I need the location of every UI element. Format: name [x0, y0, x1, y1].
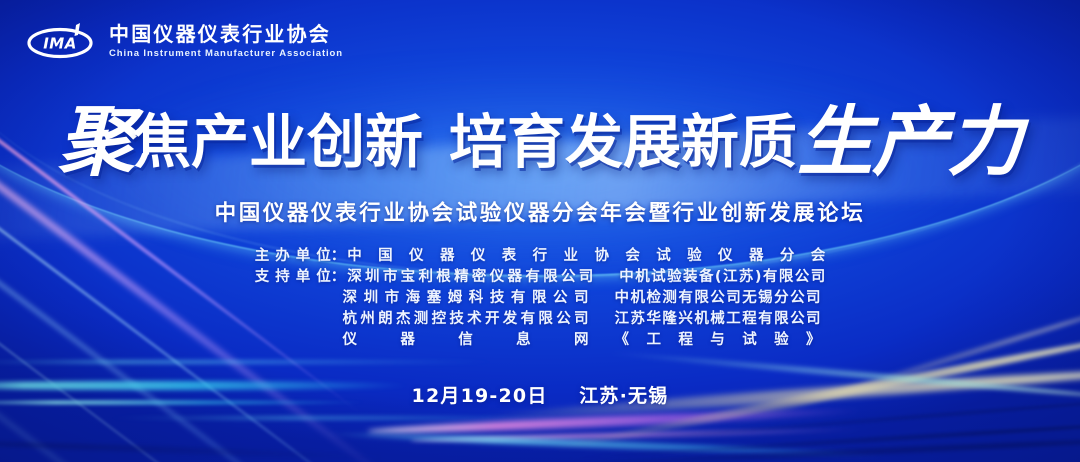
logo-text-block: 中国仪器仪表行业协会 China Instrument Manufacturer…	[109, 24, 343, 59]
support-unit-left: 仪器信息网	[343, 330, 589, 351]
title-segment-emphasis-2: 生产力	[797, 104, 1022, 180]
host-unit-row: 主办单位 ： 中国仪器仪表行业协会试验仪器分会	[255, 246, 826, 267]
title-segment-emphasis-1: 聚	[58, 104, 133, 180]
support-unit-row: 仪器信息网 《工程与试验》	[259, 330, 820, 351]
event-location: 江苏·无锡	[579, 385, 668, 407]
title-segment-3: 培育发展新质	[449, 113, 797, 171]
association-logo: IMA 中国仪器仪表行业协会 China Instrument Manufact…	[26, 22, 343, 60]
event-date: 12月19-20日	[412, 385, 548, 407]
title-segment-2: 焦产业创新	[133, 113, 423, 171]
support-unit-right: 中机检测有限公司无锡分公司	[615, 288, 821, 309]
support-unit-right: 江苏华隆兴机械工程有限公司	[615, 309, 821, 330]
organizer-block: 主办单位 ： 中国仪器仪表行业协会试验仪器分会 支持单位 ： 深圳市宝利根精密仪…	[0, 246, 1080, 351]
logo-name-en: China Instrument Manufacturer Associatio…	[109, 48, 343, 59]
support-unit-left: 深圳市宝利根精密仪器有限公司	[347, 267, 593, 288]
host-unit-label: 主办单位	[255, 246, 331, 267]
event-subtitle: 中国仪器仪表行业协会试验仪器分会年会暨行业创新发展论坛	[0, 196, 1080, 227]
main-title: 聚 焦产业创新 培育发展新质 生产力	[0, 96, 1080, 188]
logo-name-cn: 中国仪器仪表行业协会	[109, 24, 343, 44]
support-unit-right: 《工程与试验》	[615, 330, 821, 351]
host-colon: ：	[331, 246, 346, 267]
host-unit-value: 中国仪器仪表行业协会试验仪器分会	[347, 246, 825, 267]
support-unit-left: 深圳市海塞姆科技有限公司	[343, 288, 589, 309]
support-unit-row: 深圳市海塞姆科技有限公司 中机检测有限公司无锡分公司	[259, 288, 820, 309]
banner-content: IMA 中国仪器仪表行业协会 China Instrument Manufact…	[0, 0, 1080, 462]
row-indent-colon	[335, 330, 340, 351]
support-unit-row: 杭州朗杰测控技术开发有限公司 江苏华隆兴机械工程有限公司	[259, 309, 820, 330]
support-colon: ：	[331, 267, 346, 288]
row-indent-colon	[335, 288, 340, 309]
row-indent-colon	[335, 309, 340, 330]
support-unit-row: 支持单位 ： 深圳市宝利根精密仪器有限公司 中机试验装备(江苏)有限公司	[255, 267, 826, 288]
support-unit-label: 支持单位	[255, 267, 331, 288]
svg-text:IMA: IMA	[43, 35, 77, 53]
support-unit-left: 杭州朗杰测控技术开发有限公司	[343, 309, 589, 330]
ima-oval-logo-icon: IMA	[26, 22, 98, 60]
support-unit-right: 中机试验装备(江苏)有限公司	[619, 267, 825, 288]
conference-banner: IMA 中国仪器仪表行业协会 China Instrument Manufact…	[0, 0, 1080, 462]
date-location-bar: 12月19-20日 江苏·无锡	[0, 381, 1080, 408]
